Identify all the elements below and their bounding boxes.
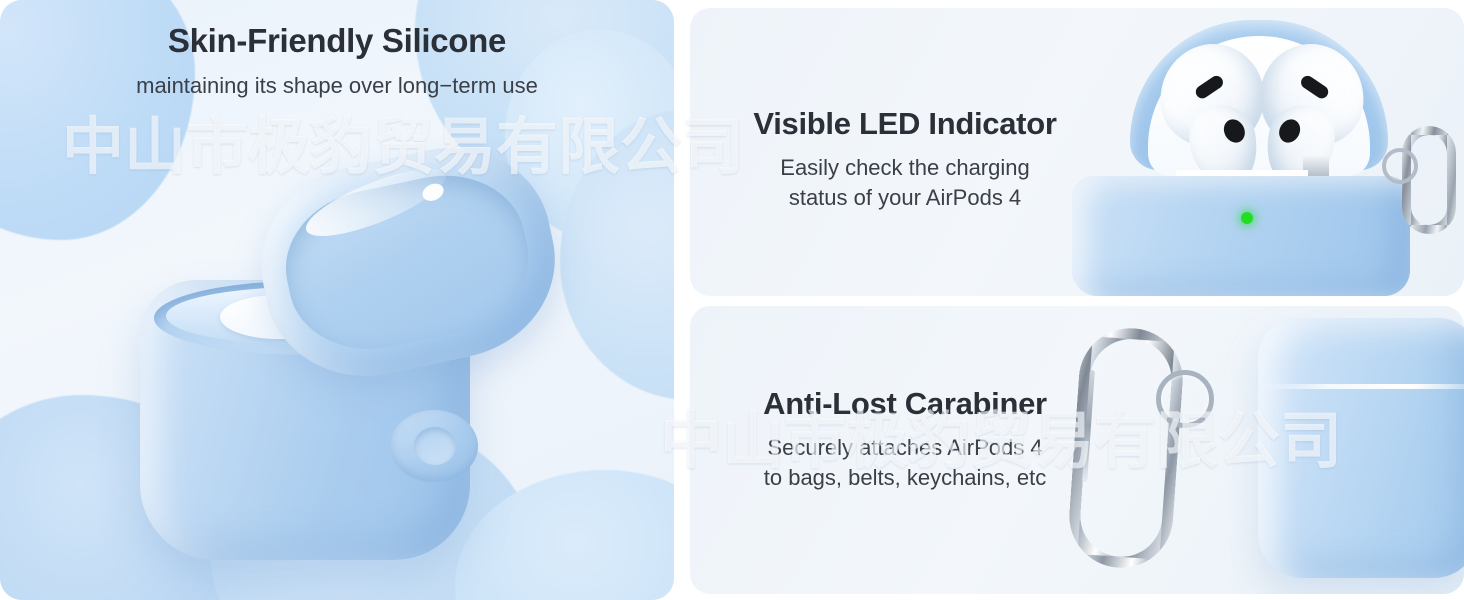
case-body <box>1072 176 1410 296</box>
panel-anti-lost-carabiner: Anti-Lost Carabiner Securely attaches Ai… <box>690 306 1464 594</box>
case-loop-hole <box>414 427 456 465</box>
case-lid-seam <box>1258 384 1464 389</box>
feature-subtitle-line2: to bags, belts, keychains, etc <box>690 463 1120 493</box>
product-image-carabiner-and-case <box>1064 306 1464 594</box>
split-ring-icon <box>1382 148 1418 184</box>
feature-subtitle-line1: Easily check the charging <box>690 153 1120 183</box>
led-indicator <box>1241 212 1253 224</box>
feature-title: Visible LED Indicator <box>690 106 1120 143</box>
product-feature-collage: Skin-Friendly Silicone maintaining its s… <box>0 0 1464 600</box>
feature-copy-led: Visible LED Indicator Easily check the c… <box>690 106 1120 213</box>
panel-visible-led-indicator: Visible LED Indicator Easily check the c… <box>690 8 1464 296</box>
split-ring-icon <box>1156 370 1214 428</box>
feature-title: Anti-Lost Carabiner <box>690 386 1120 423</box>
product-image-case-with-airpods <box>1064 8 1464 296</box>
feature-copy-silicone: Skin-Friendly Silicone maintaining its s… <box>0 22 674 101</box>
case-body <box>1258 318 1464 578</box>
feature-copy-carabiner: Anti-Lost Carabiner Securely attaches Ai… <box>690 386 1120 493</box>
feature-subtitle-line1: Securely attaches AirPods 4 <box>690 433 1120 463</box>
feature-subtitle-line2: status of your AirPods 4 <box>690 183 1120 213</box>
feature-title: Skin-Friendly Silicone <box>0 22 674 61</box>
panel-skin-friendly-silicone: Skin-Friendly Silicone maintaining its s… <box>0 0 674 600</box>
feature-subtitle: maintaining its shape over long−term use <box>0 71 674 101</box>
product-image-open-silicone-case <box>128 215 518 560</box>
